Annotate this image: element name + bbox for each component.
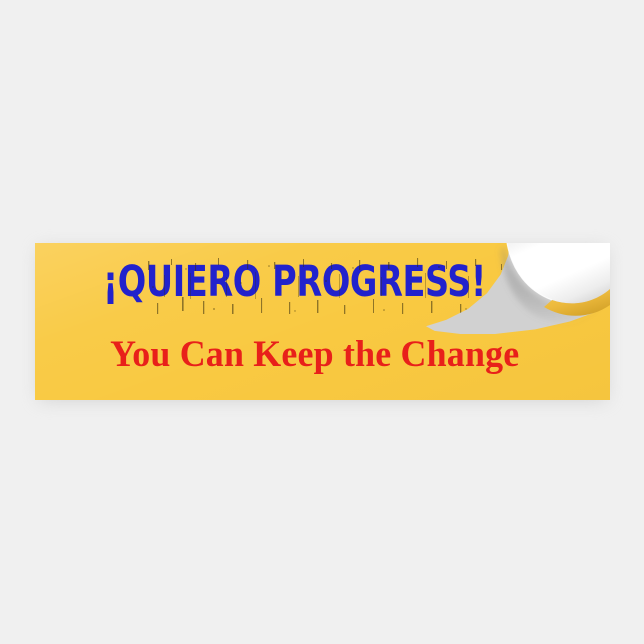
bumper-sticker[interactable]: ¡QUIERO PROGRESS! <box>35 243 610 400</box>
product-image-canvas: ¡QUIERO PROGRESS! <box>0 0 644 644</box>
sticker-subtitle: You Can Keep the Change <box>44 336 602 373</box>
sticker-headline: ¡QUIERO PROGRESS! <box>98 261 547 304</box>
